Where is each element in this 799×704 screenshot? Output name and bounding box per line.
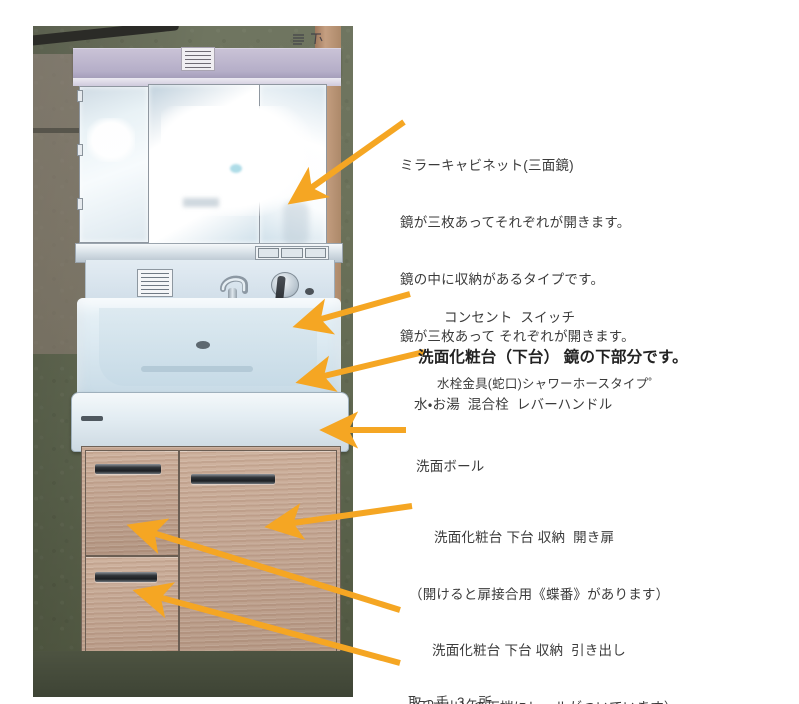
annotation-line: 水・お湯 混合栓 レバーハンドル <box>414 395 612 414</box>
annotation-line: ミラーキャビネット(三面鏡) <box>400 156 635 175</box>
diagram-page: ミラーキャビネット(三面鏡) 鏡が三枚あってそれぞれが開きます。 鏡の中に収納が… <box>0 0 799 704</box>
floor <box>33 651 353 697</box>
counter-front-slot <box>81 416 103 421</box>
mirror-hinge-bottom <box>77 198 83 210</box>
cabinet-print-mark <box>291 32 325 46</box>
handle-upper-left[interactable] <box>95 464 161 474</box>
handle-lower-drawer[interactable] <box>95 572 157 582</box>
outlet-socket <box>258 248 279 258</box>
door-right-wood-texture <box>180 451 336 679</box>
mirror-reflection-shape <box>283 201 309 246</box>
mirror-hinge-top <box>77 90 83 102</box>
counter-cap <box>305 288 314 295</box>
outlet-switch-panel <box>255 246 329 260</box>
mirror-reflection-dot <box>230 164 242 173</box>
switch-rocker-2 <box>305 248 326 258</box>
bowl-drain <box>196 341 210 349</box>
annotation-line: 洗面化粧台 下台 収納 開き扉 <box>434 528 669 547</box>
annotation-line: 鏡が三枚あってそれぞれが開きます。 <box>400 213 635 232</box>
mirror-panel-left <box>79 86 149 243</box>
annotation-line: 洗面ボール <box>416 457 485 476</box>
annotation-line: （開けると扉接合用《蝶番》があります） <box>409 585 669 604</box>
counter-front-apron <box>71 392 349 452</box>
mirror-reflection-bar <box>183 198 219 207</box>
mirror-hinge-mid <box>77 144 83 156</box>
switch-rocker-1 <box>281 248 302 258</box>
vanity-photo <box>33 26 353 697</box>
bowl-front-edge-line <box>141 366 253 372</box>
annotation-handles: 取っ手 3ヶ所 <box>408 655 492 704</box>
spec-sticker-label <box>137 269 173 297</box>
mirror-glare-left <box>87 118 135 162</box>
cabinet-door-right[interactable] <box>179 450 337 680</box>
annotation-line: 取っ手 3ヶ所 <box>408 693 492 704</box>
handle-right-door[interactable] <box>191 474 275 484</box>
cabinet-sticker-label <box>181 47 215 71</box>
